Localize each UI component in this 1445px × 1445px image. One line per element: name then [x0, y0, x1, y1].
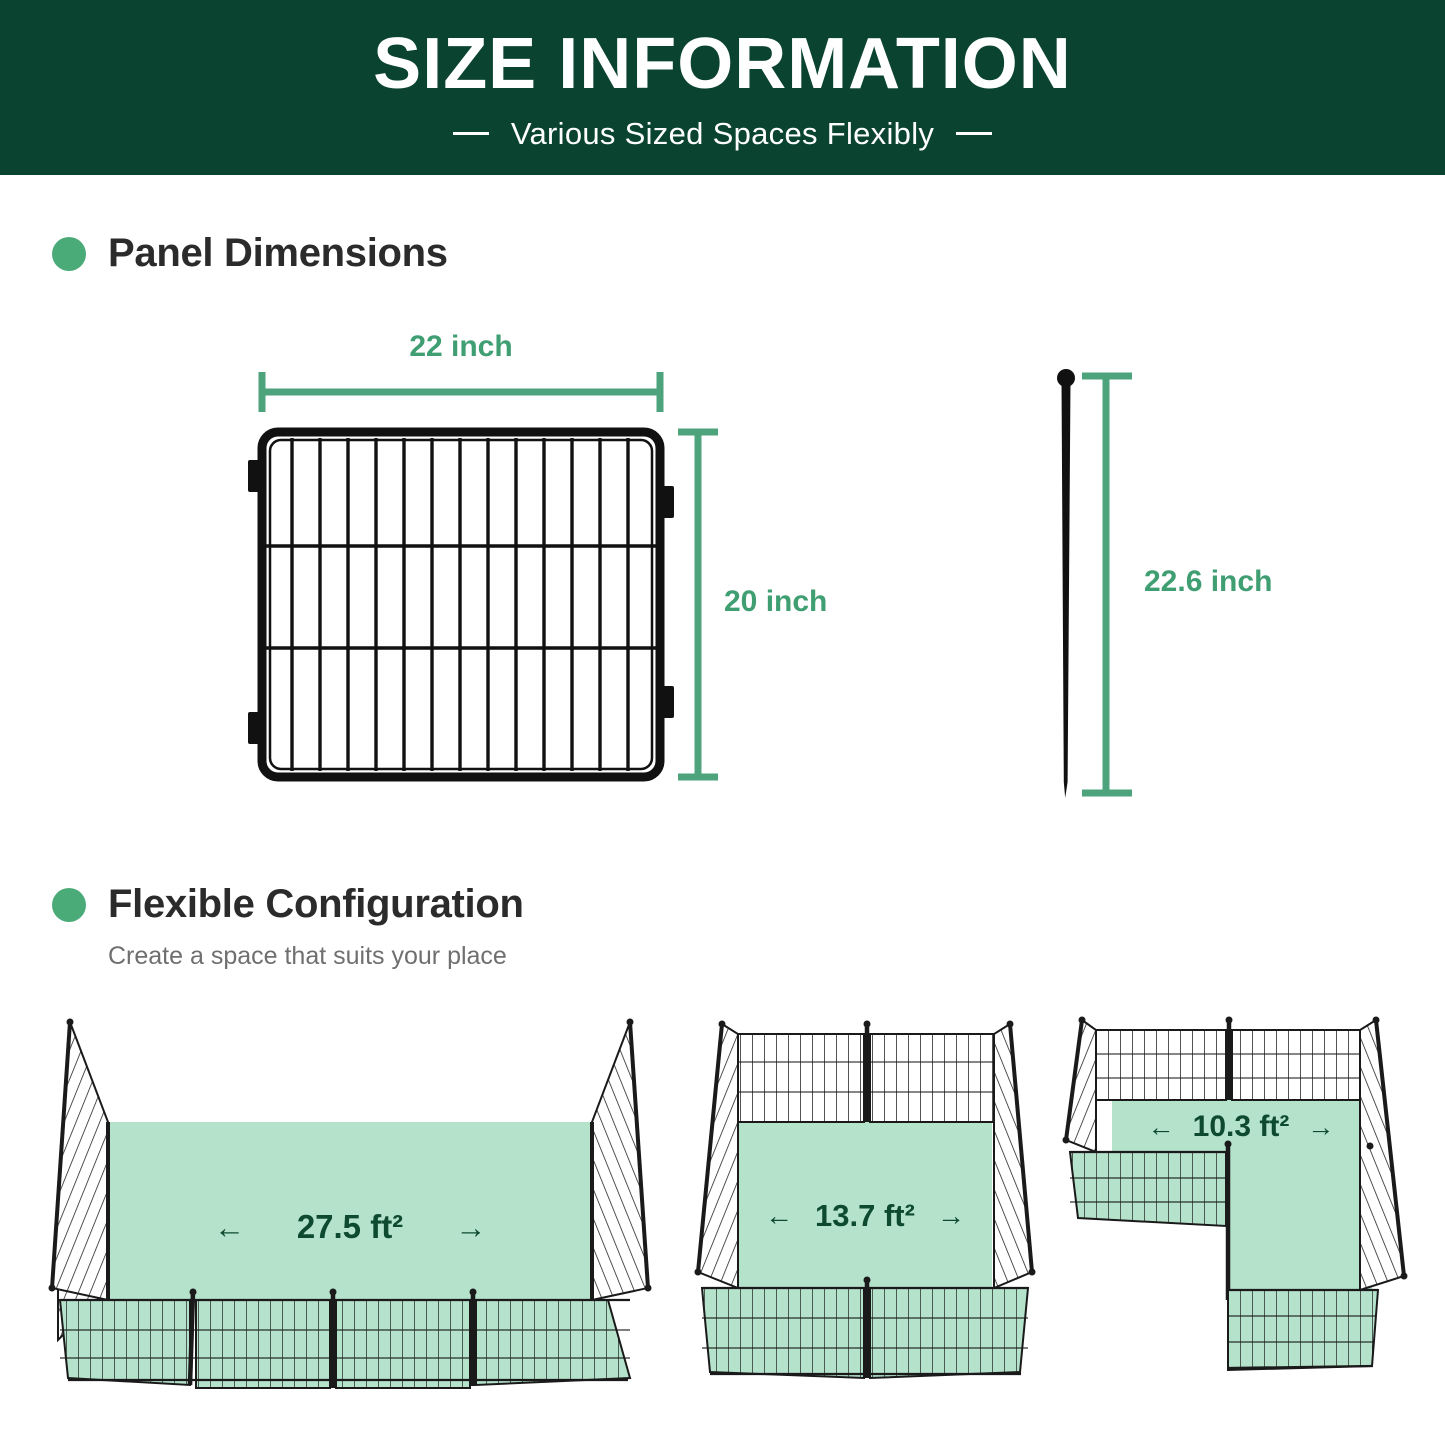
area-value-label: 10.3 ft²	[1193, 1110, 1290, 1144]
connector-tab-top-left	[248, 460, 264, 492]
back-panel-right	[592, 1019, 652, 1301]
front-panel-bottom	[1228, 1290, 1378, 1370]
page-subtitle: Various Sized Spaces Flexibly	[511, 116, 934, 152]
area-label-row: ← 10.3 ft² →	[1112, 1110, 1370, 1144]
page-title: SIZE INFORMATION	[373, 28, 1072, 100]
width-dimension-line	[262, 372, 660, 412]
config-square: ← 13.7 ft² →	[680, 1000, 1050, 1400]
flexible-configuration-subtitle: Create a space that suits your place	[108, 942, 507, 971]
page-header-banner: SIZE INFORMATION Various Sized Spaces Fl…	[0, 0, 1445, 175]
front-panels	[702, 1277, 1028, 1379]
arrow-right-icon: →	[455, 1212, 486, 1243]
side-panel-left	[695, 1021, 739, 1289]
panel-height-label: 20 inch	[724, 585, 827, 619]
front-panels	[60, 1289, 630, 1389]
ground-stake-graphic	[1057, 369, 1075, 798]
bullet-dot-icon	[52, 237, 86, 271]
area-value-label: 13.7 ft²	[815, 1198, 915, 1234]
config-wide-rectangle: ← 27.5 ft² →	[30, 1000, 670, 1400]
side-panel-right	[994, 1021, 1036, 1289]
dash-right-icon	[956, 132, 992, 135]
connector-tab-bottom-left	[248, 712, 264, 744]
arrow-right-icon: →	[1307, 1114, 1334, 1141]
subtitle-row: Various Sized Spaces Flexibly	[453, 116, 992, 152]
panel-dimensions-heading: Panel Dimensions	[52, 231, 448, 276]
arrow-left-icon: ←	[214, 1212, 245, 1243]
arrow-right-icon: →	[937, 1202, 965, 1230]
arrow-left-icon: ←	[1148, 1114, 1175, 1141]
flexible-configuration-title: Flexible Configuration	[108, 882, 524, 927]
back-panels	[1096, 1017, 1360, 1101]
area-label-row: ← 13.7 ft² →	[738, 1198, 992, 1234]
dash-left-icon	[453, 132, 489, 135]
side-panel-left	[1063, 1017, 1097, 1153]
stake-dimension-line	[1082, 376, 1132, 793]
back-panels	[738, 1021, 994, 1123]
configuration-diagrams: ← 27.5 ft² →	[0, 1000, 1445, 1400]
panel-width-label: 22 inch	[262, 330, 660, 364]
arrow-left-icon: ←	[765, 1202, 793, 1230]
connector-tab-bottom-right	[658, 686, 674, 718]
flexible-configuration-heading: Flexible Configuration	[52, 882, 524, 927]
panel-dimensions-title: Panel Dimensions	[108, 231, 448, 276]
stake-diagram: 22.6 inch	[1020, 350, 1360, 820]
area-value-label: 27.5 ft²	[297, 1208, 403, 1246]
back-panel-left	[49, 1019, 109, 1301]
fence-panel-graphic	[248, 432, 674, 777]
side-panel-right	[1360, 1017, 1408, 1291]
panel-diagram: 22 inch 20 inch	[200, 330, 900, 820]
stake-length-label: 22.6 inch	[1144, 565, 1272, 599]
config-l-shape: ← 10.3 ft² →	[1060, 1000, 1430, 1400]
bullet-dot-icon	[52, 888, 86, 922]
inner-step-panel	[1070, 1152, 1226, 1226]
connector-tab-top-right	[658, 486, 674, 518]
area-label-row: ← 27.5 ft² →	[98, 1208, 602, 1246]
height-dimension-line	[678, 432, 718, 777]
